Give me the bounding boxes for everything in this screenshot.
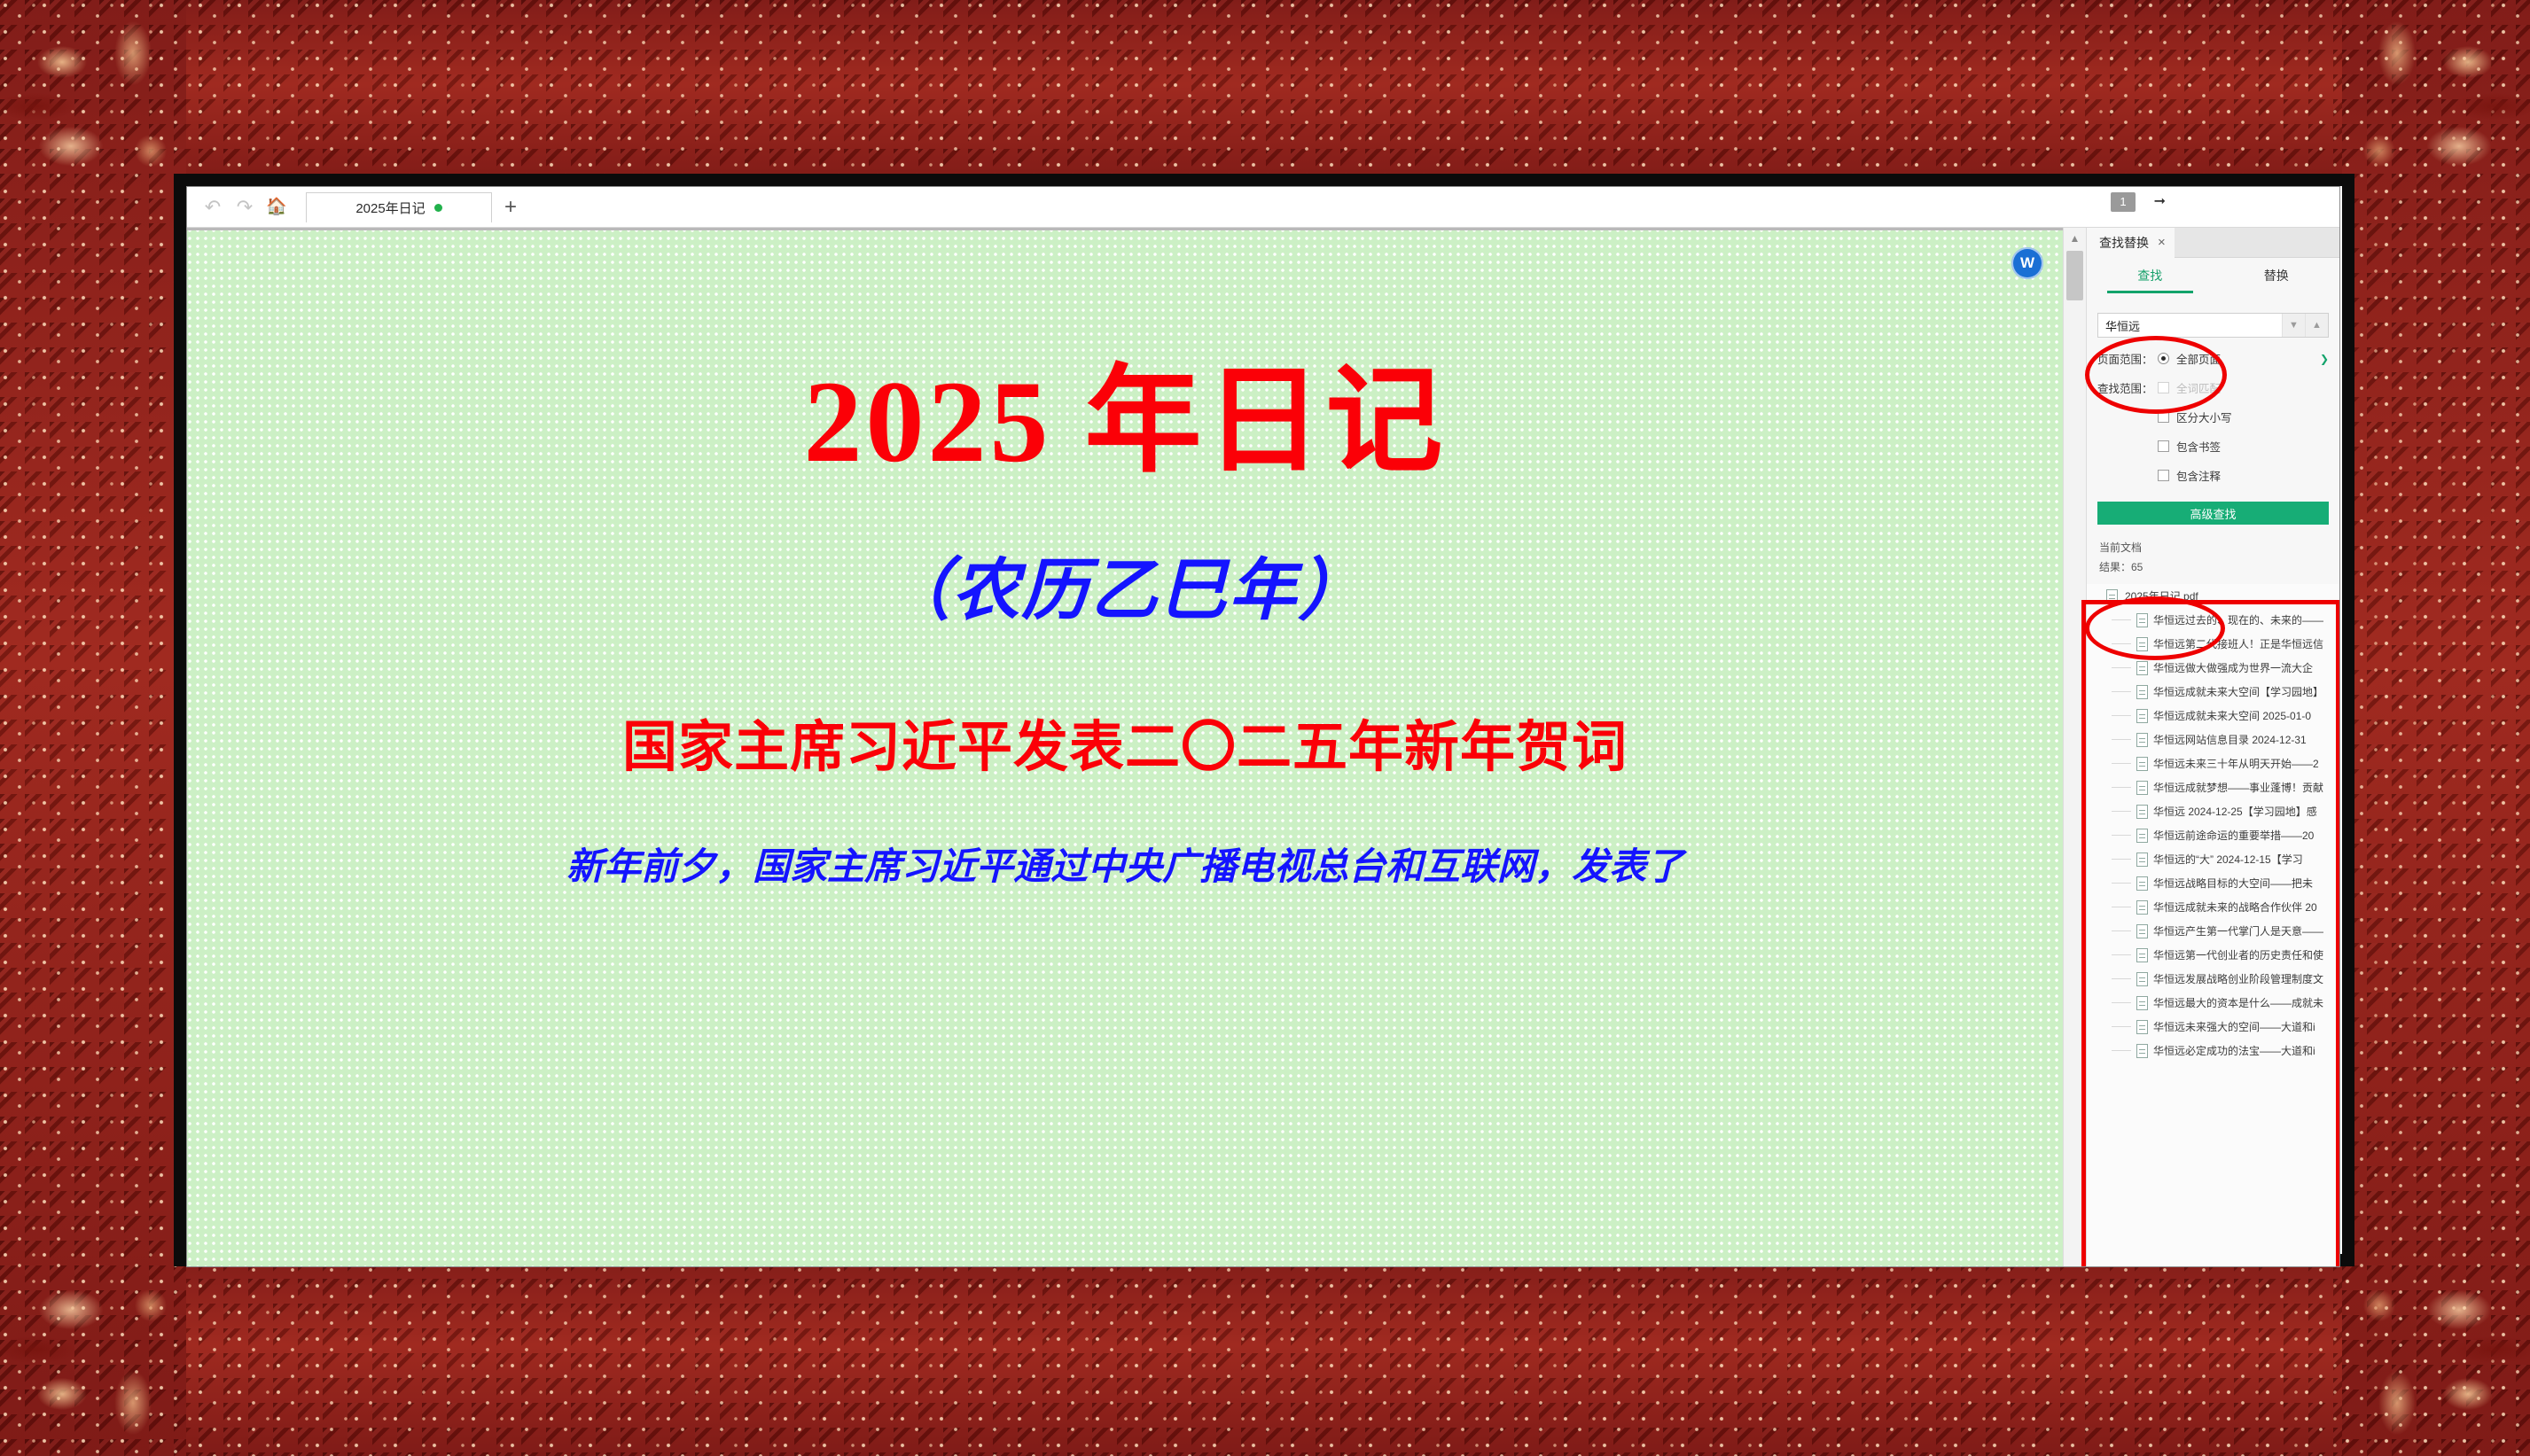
- search-input[interactable]: [2098, 314, 2282, 337]
- scrollbar-thumb[interactable]: [2066, 251, 2083, 300]
- tree-connector: [2112, 978, 2131, 979]
- find-replace-tabs: 查找 替换: [2087, 258, 2339, 293]
- file-icon: [2136, 637, 2148, 651]
- search-result-item[interactable]: 华恒远网站信息目录 2024-12-31: [2087, 728, 2339, 751]
- search-result-item[interactable]: 华恒远 2024-12-25【学习园地】感: [2087, 799, 2339, 823]
- tree-connector: [2112, 643, 2131, 644]
- search-result-label: 华恒远成就未来大空间【学习园地】: [2153, 684, 2323, 699]
- search-result-item[interactable]: 华恒远成就未来的战略合作伙伴 20: [2087, 895, 2339, 919]
- file-icon: [2136, 757, 2148, 771]
- find-replace-panel: 查找替换 × 查找 替换 ▼ ▲ 页面范围： 全部页面 ❯ 查找范围：: [2086, 228, 2339, 1266]
- page-scope-row: 页面范围： 全部页面 ❯: [2097, 350, 2329, 367]
- tree-connector: [2112, 859, 2131, 860]
- file-icon: [2106, 589, 2118, 603]
- option-label-match-case: 区分大小写: [2176, 409, 2232, 425]
- option-row-include-bookmarks: 包含书签: [2097, 438, 2329, 455]
- search-result-label: 华恒远未来强大的空间——大道和i: [2153, 1019, 2315, 1034]
- search-result-label: 华恒远第二代接班人！正是华恒远信: [2153, 636, 2323, 651]
- checkbox-match-case[interactable]: [2158, 411, 2169, 423]
- search-result-item[interactable]: 华恒远未来强大的空间——大道和i: [2087, 1015, 2339, 1039]
- search-result-label: 华恒远发展战略创业阶段管理制度文: [2153, 971, 2323, 986]
- search-result-item[interactable]: 华恒远的“大” 2024-12-15【学习: [2087, 847, 2339, 871]
- find-scope-row: 查找范围： 全词匹配: [2097, 379, 2329, 396]
- page-number-badge: 1: [2111, 192, 2136, 212]
- results-root-file-label: 2025年日记.pdf: [2125, 588, 2198, 603]
- tree-connector: [2112, 1050, 2131, 1051]
- search-input-row: ▼ ▲: [2097, 313, 2329, 338]
- tree-connector: [2112, 1002, 2131, 1003]
- find-panel-title-tab[interactable]: 查找替换 ×: [2087, 228, 2175, 258]
- checkbox-include-bookmarks[interactable]: [2158, 440, 2169, 452]
- document-vertical-scrollbar[interactable]: ▲: [2063, 228, 2086, 1266]
- new-tab-button[interactable]: +: [504, 197, 517, 218]
- file-icon: [2136, 829, 2148, 843]
- file-icon: [2136, 685, 2148, 699]
- tab-bar: ↶ ↷ 🏠 2025年日记 + 1 ➞: [187, 187, 2339, 228]
- file-icon: [2136, 709, 2148, 723]
- search-result-item[interactable]: 华恒远成就未来大空间 2025-01-0: [2087, 704, 2339, 728]
- frame-border-top: [0, 0, 2530, 186]
- tree-connector: [2112, 907, 2131, 907]
- search-result-label: 华恒远 2024-12-25【学习园地】感: [2153, 804, 2317, 819]
- file-icon: [2136, 781, 2148, 795]
- tree-connector: [2112, 811, 2131, 812]
- undo-icon[interactable]: ↶: [198, 192, 228, 222]
- tree-connector: [2112, 930, 2131, 931]
- search-result-item[interactable]: 华恒远成就未来大空间【学习园地】: [2087, 680, 2339, 704]
- search-result-label: 华恒远最大的资本是什么——成就未: [2153, 995, 2323, 1010]
- search-result-item[interactable]: 华恒远战略目标的大空间——把未: [2087, 871, 2339, 895]
- document-tab[interactable]: 2025年日记: [306, 192, 492, 222]
- checkbox-whole-word[interactable]: [2158, 382, 2169, 393]
- search-results-tree[interactable]: 2025年日记.pdf 华恒远过去的、现在的、未来的——华恒远第二代接班人！正是…: [2087, 584, 2339, 1266]
- page-subtitle: （农历乙巳年）: [883, 535, 1367, 633]
- tree-connector: [2112, 1026, 2131, 1027]
- tree-connector: [2112, 787, 2131, 788]
- tree-connector: [2112, 835, 2131, 836]
- file-icon: [2136, 876, 2148, 891]
- frame-corner-bottom-left: [0, 1234, 222, 1456]
- search-result-item[interactable]: 华恒远发展战略创业阶段管理制度文: [2087, 967, 2339, 991]
- chevron-up-icon[interactable]: ▲: [2305, 314, 2328, 337]
- search-result-item[interactable]: 华恒远第二代接班人！正是华恒远信: [2087, 632, 2339, 656]
- file-icon: [2136, 1020, 2148, 1034]
- advanced-find-button[interactable]: 高级查找: [2097, 502, 2329, 525]
- annotation-ellipse-search-term: [2085, 336, 2227, 414]
- search-result-label: 华恒远网站信息目录 2024-12-31: [2153, 732, 2307, 747]
- results-summary: 当前文档 结果：65: [2099, 539, 2339, 577]
- search-result-item[interactable]: 华恒远产生第一代掌门人是天意——: [2087, 919, 2339, 943]
- search-result-label: 华恒远前途命运的重要举措——20: [2153, 828, 2314, 843]
- tab-replace[interactable]: 替换: [2214, 258, 2340, 293]
- file-icon: [2136, 924, 2148, 938]
- file-icon: [2136, 805, 2148, 819]
- find-panel-title: 查找替换: [2099, 228, 2149, 258]
- option-label-include-comments: 包含注释: [2176, 467, 2221, 484]
- document-tab-label: 2025年日记: [355, 199, 425, 217]
- file-icon: [2136, 900, 2148, 915]
- pdf-reader-window: ↶ ↷ 🏠 2025年日记 + 1 ➞ W 2025 年日记 （农历乙巳年） 国…: [186, 186, 2340, 1267]
- search-result-label: 华恒远产生第一代掌门人是天意——: [2153, 923, 2323, 938]
- redo-icon[interactable]: ↷: [230, 192, 260, 222]
- results-scope-heading: 当前文档: [2099, 539, 2339, 558]
- file-icon: [2136, 613, 2148, 627]
- checkbox-include-comments[interactable]: [2158, 470, 2169, 481]
- work-area: W 2025 年日记 （农历乙巳年） 国家主席习近平发表二〇二五年新年贺词 新年…: [187, 228, 2339, 1266]
- search-result-label: 华恒远的“大” 2024-12-15【学习: [2153, 852, 2303, 867]
- tree-connector: [2112, 883, 2131, 884]
- search-results-items: 华恒远过去的、现在的、未来的——华恒远第二代接班人！正是华恒远信华恒远做大做强成…: [2087, 608, 2339, 1063]
- search-result-item[interactable]: 华恒远前途命运的重要举措——20: [2087, 823, 2339, 847]
- home-icon[interactable]: 🏠: [262, 192, 292, 222]
- document-canvas[interactable]: W 2025 年日记 （农历乙巳年） 国家主席习近平发表二〇二五年新年贺词 新年…: [187, 228, 2063, 1266]
- file-icon: [2136, 1044, 2148, 1058]
- close-icon[interactable]: ×: [2158, 228, 2166, 258]
- search-result-item[interactable]: 华恒远做大做强成为世界一流大企: [2087, 656, 2339, 680]
- file-icon: [2136, 661, 2148, 675]
- file-icon: [2136, 972, 2148, 986]
- file-icon: [2136, 948, 2148, 962]
- tree-connector: [2112, 954, 2131, 955]
- results-root-file[interactable]: 2025年日记.pdf: [2087, 584, 2339, 608]
- search-result-item[interactable]: 华恒远第一代创业者的历史责任和使: [2087, 943, 2339, 967]
- find-scope-label: 查找范围：: [2097, 379, 2158, 396]
- option-label-include-bookmarks: 包含书签: [2176, 438, 2221, 455]
- tree-connector: [2112, 739, 2131, 740]
- file-icon: [2136, 996, 2148, 1010]
- unsaved-indicator-dot: [434, 204, 442, 212]
- page-scope-radio[interactable]: [2158, 353, 2169, 364]
- search-result-item[interactable]: 华恒远最大的资本是什么——成就未: [2087, 991, 2339, 1015]
- search-result-item[interactable]: 华恒远未来三十年从明天开始——2: [2087, 751, 2339, 775]
- search-result-label: 华恒远过去的、现在的、未来的——: [2153, 612, 2323, 627]
- tree-connector: [2112, 619, 2131, 620]
- page-scope-value[interactable]: 全部页面: [2176, 350, 2221, 367]
- page-title: 2025 年日记: [804, 361, 1447, 484]
- search-result-label: 华恒远第一代创业者的历史责任和使: [2153, 947, 2323, 962]
- page-scope-label: 页面范围：: [2097, 350, 2158, 367]
- tab-find[interactable]: 查找: [2087, 258, 2214, 293]
- tree-connector: [2112, 667, 2131, 668]
- option-label-whole-word: 全词匹配: [2176, 379, 2221, 396]
- tree-connector: [2112, 691, 2131, 692]
- file-icon: [2136, 733, 2148, 747]
- search-result-item[interactable]: 华恒远成就梦想——事业蓬博！贡献: [2087, 775, 2339, 799]
- option-row-match-case: 区分大小写: [2097, 409, 2329, 425]
- option-row-include-comments: 包含注释: [2097, 467, 2329, 484]
- search-result-label: 华恒远做大做强成为世界一流大企: [2153, 660, 2313, 675]
- find-panel-header: 查找替换 ×: [2087, 228, 2339, 258]
- tree-connector: [2112, 715, 2131, 716]
- results-count: 结果：65: [2099, 558, 2339, 578]
- search-result-label: 华恒远成就未来的战略合作伙伴 20: [2153, 899, 2317, 915]
- document-page: 2025 年日记 （农历乙巳年） 国家主席习近平发表二〇二五年新年贺词 新年前夕…: [187, 228, 2063, 1266]
- search-result-item[interactable]: 华恒远必定成功的法宝——大道和i: [2087, 1039, 2339, 1063]
- page-headline: 国家主席习近平发表二〇二五年新年贺词: [622, 702, 1628, 782]
- file-icon: [2136, 853, 2148, 867]
- search-result-label: 华恒远必定成功的法宝——大道和i: [2153, 1043, 2315, 1058]
- frame-border-bottom: [0, 1254, 2530, 1456]
- scroll-up-arrow-icon[interactable]: ▲: [2064, 228, 2086, 249]
- chevron-down-icon[interactable]: ▼: [2282, 314, 2305, 337]
- chevron-right-icon[interactable]: ❯: [2320, 353, 2329, 365]
- search-result-label: 华恒远未来三十年从明天开始——2: [2153, 756, 2319, 771]
- search-result-label: 华恒远成就梦想——事业蓬博！贡献: [2153, 780, 2323, 795]
- search-result-label: 华恒远成就未来大空间 2025-01-0: [2153, 708, 2311, 723]
- tree-connector: [2112, 763, 2131, 764]
- search-result-label: 华恒远战略目标的大空间——把未: [2153, 876, 2313, 891]
- search-result-item[interactable]: 华恒远过去的、现在的、未来的——: [2087, 608, 2339, 632]
- collapse-panel-icon[interactable]: ➞: [2154, 194, 2166, 210]
- frame-corner-bottom-right: [2308, 1234, 2530, 1456]
- page-lead-paragraph: 新年前夕，国家主席习近平通过中央广播电视总台和互联网，发表了: [566, 837, 1683, 891]
